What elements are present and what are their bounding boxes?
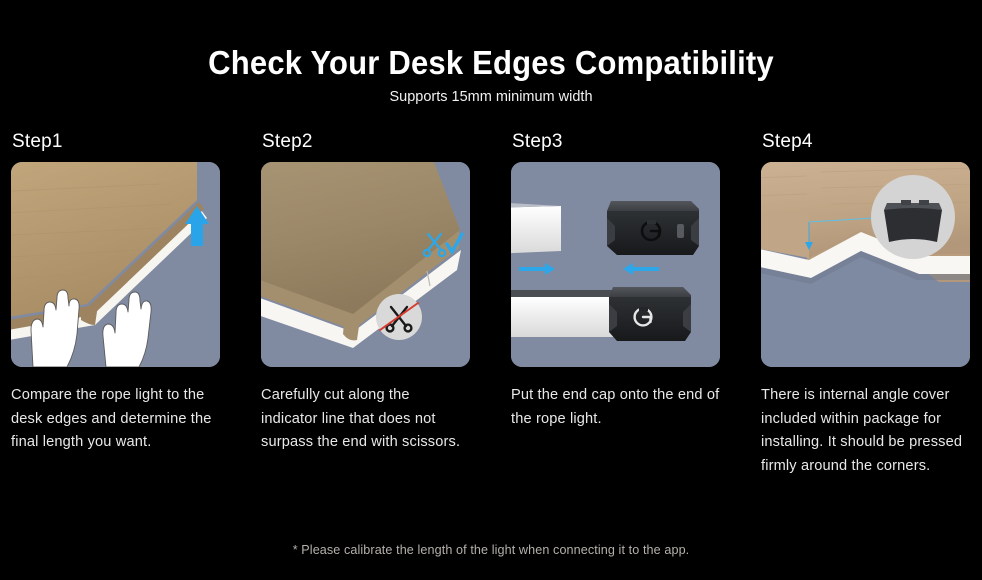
end-cap-upper (607, 201, 699, 255)
step-label-3: Step3 (512, 131, 720, 154)
step-figure-1 (11, 162, 220, 367)
step-item-1: Step1 (11, 131, 220, 479)
step-item-2: Step2 (261, 131, 470, 479)
internal-angle-cover-callout-illustration (761, 162, 970, 367)
steps-container: Step1 (11, 131, 973, 479)
step-caption-2: Carefully cut along the indicator line t… (261, 384, 470, 455)
page-title: Check Your Desk Edges Compatibility (29, 46, 952, 79)
step-figure-3 (511, 162, 720, 367)
step-label-2: Step2 (262, 131, 470, 154)
page-subtitle: Supports 15mm minimum width (0, 90, 982, 105)
angle-cover-body (884, 208, 942, 242)
rope-light-strip (511, 202, 561, 254)
end-cap-attachment-illustration (511, 162, 720, 367)
angle-cover-callout-icon (871, 175, 955, 259)
step-label-4: Step4 (762, 131, 970, 154)
step-caption-1: Compare the rope light to the desk edges… (11, 384, 220, 455)
step-item-4: Step4 (761, 131, 970, 479)
end-cap-lower (609, 287, 691, 341)
desk-edge-cut-indicator-illustration (261, 162, 470, 367)
step-item-3: Step3 (511, 131, 720, 479)
desk-corner-with-rope-light-and-hands-illustration (11, 162, 220, 367)
footnote-text: * Please calibrate the length of the lig… (0, 543, 982, 557)
step-figure-4 (761, 162, 970, 367)
no-cut-badge-icon (376, 294, 422, 340)
step-label-1: Step1 (12, 131, 220, 154)
step-caption-4: There is internal angle cover included w… (761, 384, 970, 479)
step-caption-3: Put the end cap onto the end of the rope… (511, 384, 720, 432)
rope-light-strip-attached (511, 290, 615, 337)
step-figure-2 (261, 162, 470, 367)
